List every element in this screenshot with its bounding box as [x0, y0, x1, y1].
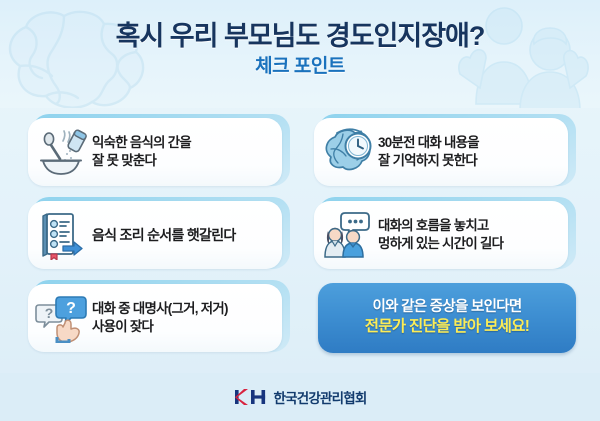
- card-text: 대화 중 대명사(그거, 저거) 사용이 잦다: [90, 300, 228, 335]
- checklist-item-5[interactable]: ? ? 대화 중 대명사(그거, 저거) 사용이 잦다: [28, 280, 290, 356]
- checklist-item-1[interactable]: 익숙한 음식의 간을 잘 못 맞춘다: [28, 114, 290, 190]
- card-body[interactable]: 30분전 대화 내용을 잘 기억하지 못한다: [314, 118, 568, 186]
- header-banner: 혹시 우리 부모님도 경도인지장애? 체크 포인트: [0, 0, 600, 108]
- card-line-1: 대화의 호름을 놓치고: [378, 217, 503, 235]
- card-line-2: 잘 못 맞춘다: [92, 152, 191, 170]
- card-text: 익숙한 음식의 간을 잘 못 맞춘다: [90, 134, 191, 169]
- question-bubbles-hand-icon: ? ?: [32, 289, 90, 347]
- organization-logo[interactable]: 한국건강관리협회: [234, 387, 367, 407]
- card-text: 대화의 호름을 놓치고 멍하게 있는 시간이 길다: [376, 217, 503, 252]
- footer-bar: 한국건강관리협회: [0, 373, 600, 421]
- cta-body[interactable]: 이와 같은 증상을 보인다면 전문가 진단을 받아 보세요!: [318, 283, 576, 353]
- svg-text:?: ?: [66, 300, 76, 317]
- recipe-book-arrow-icon: [32, 206, 90, 264]
- card-body[interactable]: ? ? 대화 중 대명사(그거, 저거) 사용이 잦다: [28, 284, 282, 352]
- card-body[interactable]: 음식 조리 순서를 햇갈린다: [28, 201, 282, 269]
- cta-banner[interactable]: 이와 같은 증상을 보인다면 전문가 진단을 받아 보세요!: [314, 280, 576, 356]
- bowl-spoon-salt-icon: [32, 123, 90, 181]
- cta-line-1: 이와 같은 증상을 보인다면: [372, 298, 521, 318]
- card-line-1: 음식 조리 순서를 햇갈린다: [92, 226, 236, 244]
- checklist-item-4[interactable]: 대화의 호름을 놓치고 멍하게 있는 시간이 길다: [314, 197, 576, 273]
- card-line-1: 대화 중 대명사(그거, 저거): [92, 300, 228, 318]
- checklist-grid: 익숙한 음식의 간을 잘 못 맞춘다: [28, 114, 576, 363]
- card-text: 30분전 대화 내용을 잘 기억하지 못한다: [376, 134, 479, 169]
- card-line-2: 멍하게 있는 시간이 길다: [378, 235, 503, 253]
- page-subtitle: 체크 포인트: [0, 51, 600, 77]
- infographic-poster: 혹시 우리 부모님도 경도인지장애? 체크 포인트: [0, 0, 600, 421]
- svg-text:?: ?: [45, 305, 54, 321]
- cta-line-2: 전문가 진단을 받아 보세요!: [365, 317, 529, 338]
- checklist-row: 익숙한 음식의 간을 잘 못 맞춘다: [28, 114, 576, 190]
- card-line-1: 30분전 대화 내용을: [378, 134, 479, 152]
- organization-name: 한국건강관리협회: [274, 387, 367, 407]
- card-line-2: 잘 기억하지 못한다: [378, 152, 479, 170]
- card-text: 음식 조리 순서를 햇갈린다: [90, 226, 236, 244]
- card-line-2: 사용이 잦다: [92, 318, 228, 336]
- checklist-item-2[interactable]: 30분전 대화 내용을 잘 기억하지 못한다: [314, 114, 576, 190]
- kh-logo-icon: [234, 388, 268, 406]
- checklist-row: 음식 조리 순서를 햇갈린다: [28, 197, 576, 273]
- card-body[interactable]: 익숙한 음식의 간을 잘 못 맞춘다: [28, 118, 282, 186]
- checklist-row: ? ? 대화 중 대명사(그거, 저거) 사용이 잦다: [28, 280, 576, 356]
- checklist-item-3[interactable]: 음식 조리 순서를 햇갈린다: [28, 197, 290, 273]
- card-line-1: 익숙한 음식의 간을: [92, 134, 191, 152]
- brain-clock-icon: [318, 123, 376, 181]
- card-body[interactable]: 대화의 호름을 놓치고 멍하게 있는 시간이 길다: [314, 201, 568, 269]
- two-people-speech-bubble-icon: [318, 206, 376, 264]
- page-title: 혹시 우리 부모님도 경도인지장애?: [0, 0, 600, 51]
